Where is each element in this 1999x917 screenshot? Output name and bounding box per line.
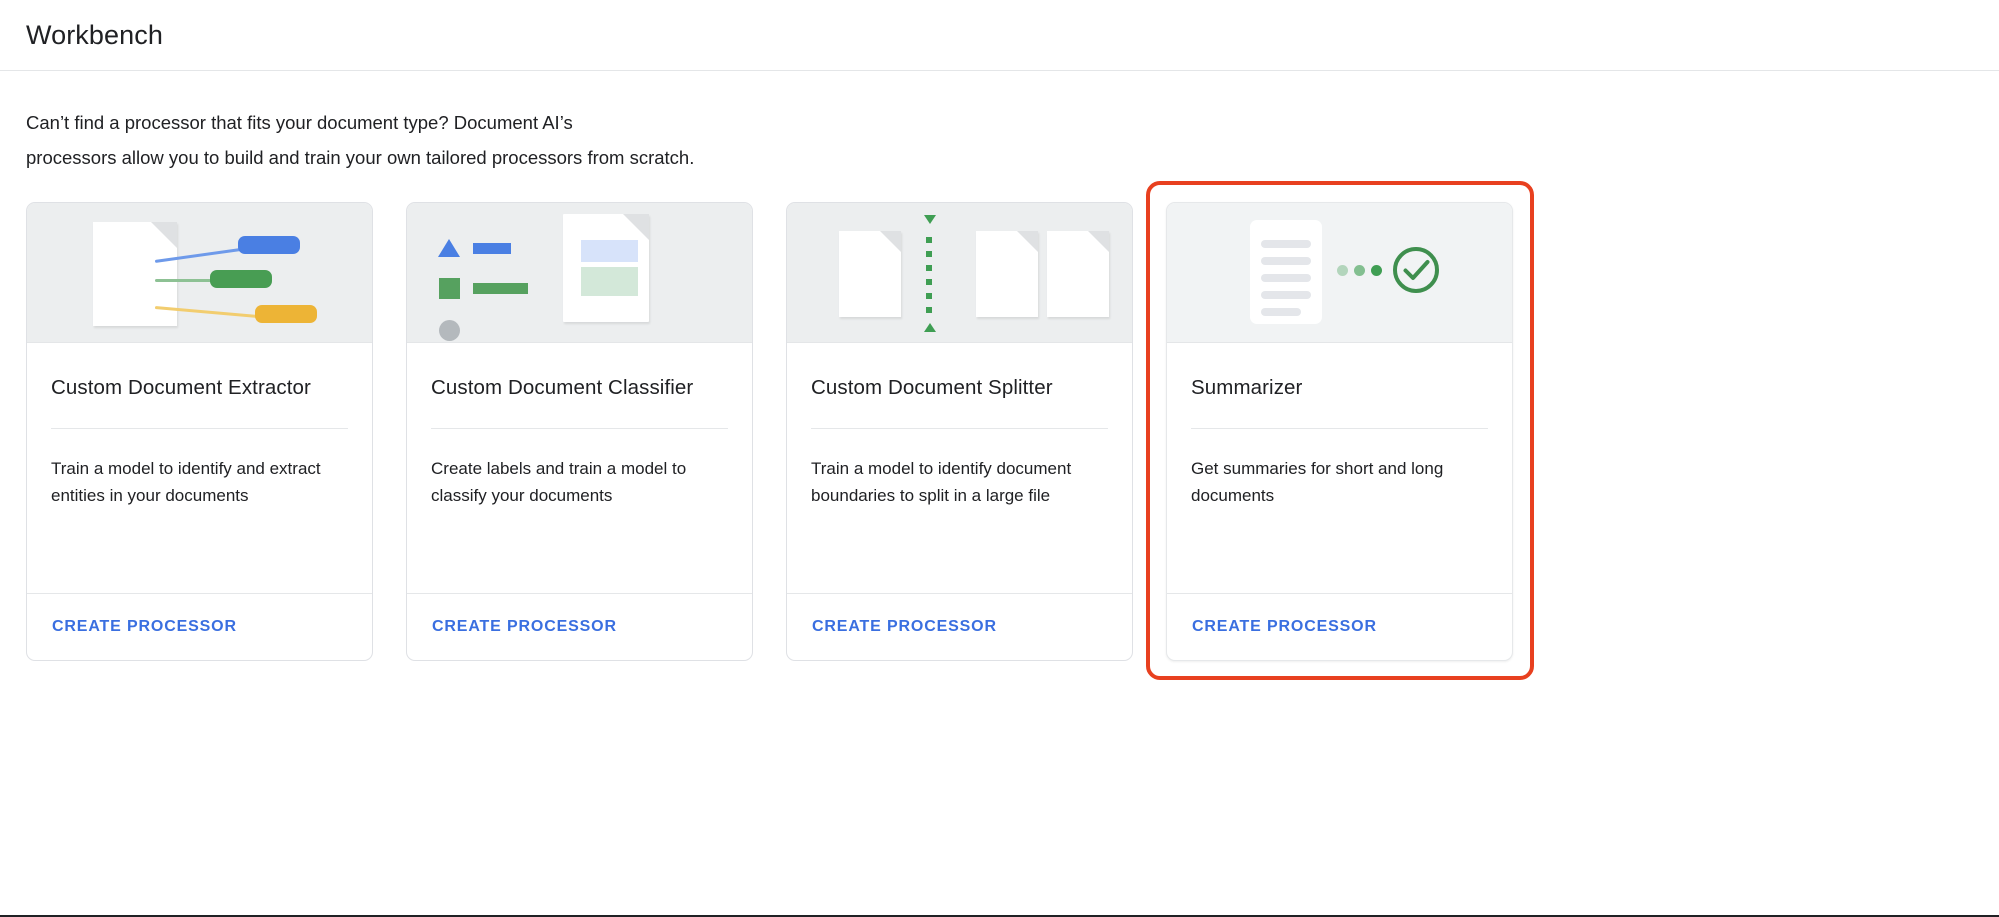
card-title: Custom Document Extractor — [51, 376, 348, 400]
split-arrow-down-icon — [924, 215, 936, 224]
card-description: Get summaries for short and long documen… — [1191, 455, 1488, 509]
split-arrow-up-icon — [924, 323, 936, 332]
card-divider — [1191, 428, 1488, 429]
class-triangle-blue — [438, 239, 460, 257]
class-square-green — [439, 278, 460, 299]
progress-dot — [1371, 265, 1382, 276]
extract-leader-line-green — [155, 279, 215, 282]
entity-pill-green — [210, 270, 272, 288]
page-title: Workbench — [26, 20, 163, 51]
summary-text-line — [1261, 240, 1311, 248]
card-media-custom-document-splitter — [787, 203, 1132, 343]
card-slot-custom-document-classifier: Custom Document Classifier Create labels… — [406, 202, 786, 661]
class-circle-gray — [439, 320, 460, 341]
summary-text-line — [1261, 257, 1311, 265]
card-description: Train a model to identify and extract en… — [51, 455, 348, 509]
card-title: Summarizer — [1191, 376, 1488, 400]
page-fold-corner — [1017, 231, 1038, 252]
card-slot-summarizer: Summarizer Get summaries for short and l… — [1166, 202, 1546, 661]
split-dot — [926, 237, 932, 243]
card-title: Custom Document Splitter — [811, 376, 1108, 400]
card-footer: CREATE PROCESSOR — [407, 593, 752, 660]
document-entity-extraction-icon — [27, 203, 372, 342]
processor-card-custom-document-splitter[interactable]: Custom Document Splitter Train a model t… — [786, 202, 1133, 661]
card-media-custom-document-classifier — [407, 203, 752, 343]
progress-dot — [1337, 265, 1348, 276]
class-bar-green — [473, 283, 528, 294]
card-slot-custom-document-extractor: Custom Document Extractor Train a model … — [26, 202, 406, 661]
classified-block-green — [581, 267, 638, 296]
summary-text-line — [1261, 308, 1301, 316]
processor-card-summarizer[interactable]: Summarizer Get summaries for short and l… — [1166, 202, 1513, 661]
split-divider-line — [922, 215, 935, 332]
page-fold-corner — [1088, 231, 1109, 252]
card-body-summarizer: Summarizer Get summaries for short and l… — [1167, 343, 1512, 593]
card-body-custom-document-extractor: Custom Document Extractor Train a model … — [27, 343, 372, 593]
summary-text-line — [1261, 291, 1311, 299]
classified-block-blue — [581, 240, 638, 262]
document-split-icon — [787, 203, 1132, 342]
card-body-custom-document-splitter: Custom Document Splitter Train a model t… — [787, 343, 1132, 593]
card-footer: CREATE PROCESSOR — [1167, 593, 1512, 660]
create-processor-button-custom-document-splitter[interactable]: CREATE PROCESSOR — [812, 618, 997, 636]
split-dot — [926, 265, 932, 271]
card-divider — [811, 428, 1108, 429]
entity-pill-amber — [255, 305, 317, 323]
card-slot-custom-document-splitter: Custom Document Splitter Train a model t… — [786, 202, 1166, 661]
summary-document-shape — [1250, 220, 1322, 324]
progress-dot — [1354, 265, 1365, 276]
card-footer: CREATE PROCESSOR — [787, 593, 1132, 660]
card-description: Train a model to identify document bound… — [811, 455, 1108, 509]
document-summary-check-icon — [1167, 203, 1512, 342]
processor-card-custom-document-classifier[interactable]: Custom Document Classifier Create labels… — [406, 202, 753, 661]
page-header: Workbench — [0, 0, 1999, 71]
card-description: Create labels and train a model to class… — [431, 455, 728, 509]
document-sheet-shape — [93, 222, 177, 326]
intro-line-2: processors allow you to build and train … — [26, 147, 694, 168]
processor-card-custom-document-extractor[interactable]: Custom Document Extractor Train a model … — [26, 202, 373, 661]
intro-line-1: Can’t find a processor that fits your do… — [26, 112, 573, 133]
document-sheet-shape — [839, 231, 901, 317]
card-media-summarizer — [1167, 203, 1512, 343]
card-title: Custom Document Classifier — [431, 376, 728, 400]
processor-card-grid: Custom Document Extractor Train a model … — [0, 202, 1999, 661]
split-dot — [926, 307, 932, 313]
card-body-custom-document-classifier: Custom Document Classifier Create labels… — [407, 343, 752, 593]
create-processor-button-summarizer[interactable]: CREATE PROCESSOR — [1192, 618, 1377, 636]
split-dot — [926, 251, 932, 257]
intro-description: Can’t find a processor that fits your do… — [26, 105, 906, 175]
create-processor-button-custom-document-classifier[interactable]: CREATE PROCESSOR — [432, 618, 617, 636]
summary-text-line — [1261, 274, 1311, 282]
page-fold-corner — [880, 231, 901, 252]
class-bar-blue — [473, 243, 511, 254]
document-classification-icon — [407, 203, 752, 342]
split-dot — [926, 293, 932, 299]
document-sheet-shape — [976, 231, 1038, 317]
split-dot — [926, 279, 932, 285]
entity-pill-blue — [238, 236, 300, 254]
card-footer: CREATE PROCESSOR — [27, 593, 372, 660]
create-processor-button-custom-document-extractor[interactable]: CREATE PROCESSOR — [52, 618, 237, 636]
page-fold-corner — [623, 214, 649, 240]
workbench-page: Workbench Can’t find a processor that fi… — [0, 0, 1999, 917]
card-media-custom-document-extractor — [27, 203, 372, 343]
card-divider — [51, 428, 348, 429]
document-sheet-shape — [1047, 231, 1109, 317]
page-fold-corner — [151, 222, 177, 248]
check-circle-icon — [1391, 245, 1441, 295]
card-divider — [431, 428, 728, 429]
